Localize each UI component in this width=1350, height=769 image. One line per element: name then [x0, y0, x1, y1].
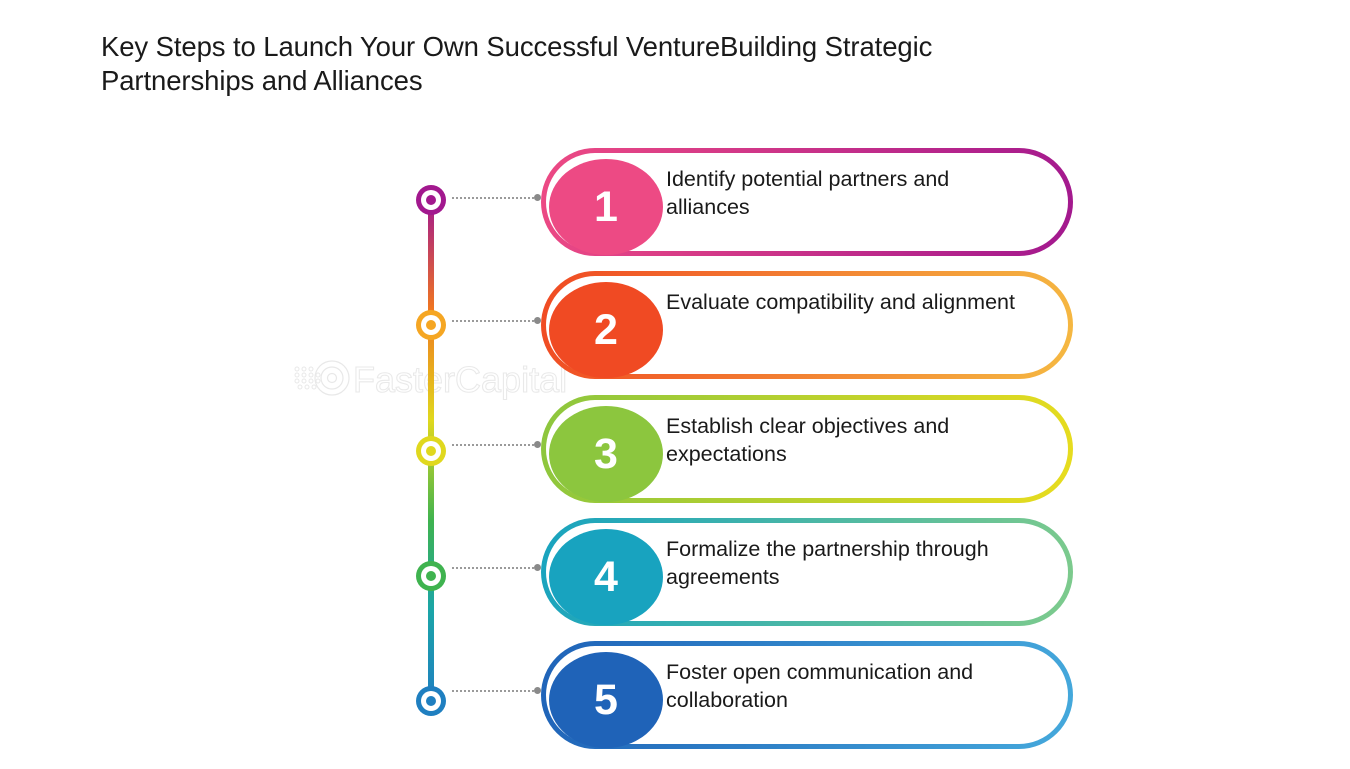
step-row: 2 Evaluate compatibility and alignment: [0, 271, 1350, 393]
step-connector-dot: [534, 194, 541, 201]
step-number-badge: 5: [549, 652, 663, 748]
step-connector: [452, 444, 538, 450]
steps-list: 1 Identify potential partners and allian…: [0, 0, 1350, 769]
step-connector-dot: [534, 687, 541, 694]
step-number-badge: 1: [549, 159, 663, 255]
step-connector-dot: [534, 564, 541, 571]
step-capsule-inner: 4 Formalize the partnership through agre…: [546, 523, 1068, 621]
step-label: Evaluate compatibility and alignment: [666, 288, 1038, 316]
step-label: Formalize the partnership through agreem…: [666, 535, 1038, 591]
step-connector: [452, 690, 538, 696]
step-label: Establish clear objectives and expectati…: [666, 412, 1038, 468]
step-connector: [452, 197, 538, 203]
step-row: 3 Establish clear objectives and expecta…: [0, 395, 1350, 517]
step-capsule-inner: 2 Evaluate compatibility and alignment: [546, 276, 1068, 374]
step-capsule[interactable]: 2 Evaluate compatibility and alignment: [541, 271, 1073, 379]
step-connector: [452, 320, 538, 326]
step-capsule[interactable]: 1 Identify potential partners and allian…: [541, 148, 1073, 256]
step-row: 5 Foster open communication and collabor…: [0, 641, 1350, 763]
step-row: 4 Formalize the partnership through agre…: [0, 518, 1350, 640]
step-label: Identify potential partners and alliance…: [666, 165, 1038, 221]
step-number-badge: 3: [549, 406, 663, 502]
step-connector-dot: [534, 317, 541, 324]
step-capsule-inner: 3 Establish clear objectives and expecta…: [546, 400, 1068, 498]
step-connector-dot: [534, 441, 541, 448]
step-number-badge: 2: [549, 282, 663, 378]
step-capsule-inner: 5 Foster open communication and collabor…: [546, 646, 1068, 744]
step-number-badge: 4: [549, 529, 663, 625]
step-connector: [452, 567, 538, 573]
step-capsule[interactable]: 4 Formalize the partnership through agre…: [541, 518, 1073, 626]
step-capsule-inner: 1 Identify potential partners and allian…: [546, 153, 1068, 251]
step-row: 1 Identify potential partners and allian…: [0, 148, 1350, 270]
step-capsule[interactable]: 3 Establish clear objectives and expecta…: [541, 395, 1073, 503]
step-label: Foster open communication and collaborat…: [666, 658, 1038, 714]
step-capsule[interactable]: 5 Foster open communication and collabor…: [541, 641, 1073, 749]
